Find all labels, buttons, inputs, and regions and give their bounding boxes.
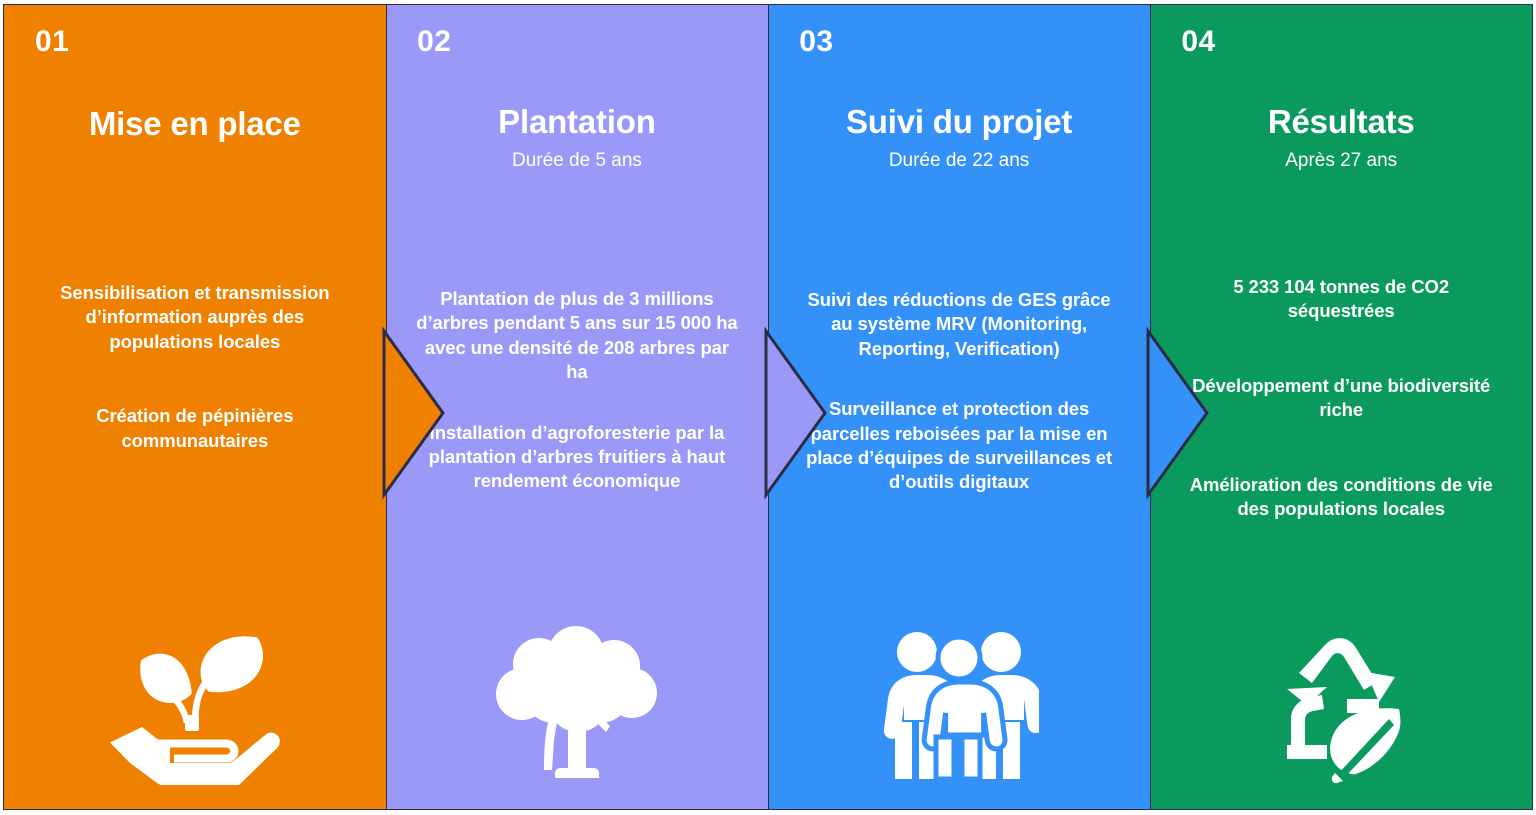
step-title-01: Mise en place [18, 105, 372, 143]
step-paragraph: Suivi des réductions de GES grâce au sys… [796, 288, 1122, 361]
process-steps-row: 01 Mise en place Sensibilisation et tran… [3, 4, 1533, 810]
step-paragraph: Surveillance et protection des parcelles… [796, 397, 1122, 495]
step-body-02: Plantation de plus de 3 millions d’arbre… [386, 287, 768, 530]
step-icon-wrap-03 [768, 605, 1150, 785]
step-paragraph: Sensibilisation et transmission d’inform… [38, 281, 352, 354]
step-paragraph: Création de pépinières communautaires [38, 404, 352, 453]
step-title-04: Résultats [1164, 103, 1518, 141]
recycle-leaf-icon [1261, 627, 1421, 785]
hand-holding-seedling-icon [107, 627, 282, 785]
step-icon-wrap-02 [386, 605, 768, 785]
step-icon-wrap-04 [1150, 605, 1532, 785]
step-title-03: Suivi du projet [782, 103, 1136, 141]
step-body-03: Suivi des réductions de GES grâce au sys… [768, 288, 1150, 531]
process-step-04[interactable]: 04 Résultats Après 27 ans 5 233 104 tonn… [1149, 4, 1533, 810]
step-body-04: 5 233 104 tonnes de CO2 séquestrées Déve… [1150, 275, 1532, 571]
step-number-03: 03 [799, 27, 833, 57]
tree-icon [494, 620, 659, 785]
step-icon-wrap-01 [4, 605, 386, 785]
step-number-04: 04 [1181, 27, 1215, 57]
step-body-01: Sensibilisation et transmission d’inform… [4, 281, 386, 503]
step-header-03: Suivi du projet Durée de 22 ans [768, 103, 1150, 173]
process-step-01[interactable]: 01 Mise en place Sensibilisation et tran… [3, 4, 387, 810]
step-paragraph: Plantation de plus de 3 millions d’arbre… [416, 287, 738, 385]
step-paragraph: Développement d’une biodiversité riche [1182, 374, 1500, 423]
step-title-02: Plantation [400, 103, 754, 141]
three-people-icon [879, 630, 1039, 785]
step-number-02: 02 [417, 27, 451, 57]
process-step-03[interactable]: 03 Suivi du projet Durée de 22 ans Suivi… [767, 4, 1151, 810]
step-paragraph: Amélioration des conditions de vie des p… [1182, 473, 1500, 522]
step-header-04: Résultats Après 27 ans [1150, 103, 1532, 173]
step-header-02: Plantation Durée de 5 ans [386, 103, 768, 173]
step-paragraph: 5 233 104 tonnes de CO2 séquestrées [1182, 275, 1500, 324]
step-paragraph: Installation d’agroforesterie par la pla… [416, 421, 738, 494]
step-subtitle-02: Durée de 5 ans [400, 150, 754, 173]
infographic-canvas: 01 Mise en place Sensibilisation et tran… [0, 0, 1536, 815]
step-header-01: Mise en place [4, 105, 386, 143]
step-number-01: 01 [35, 27, 69, 57]
process-step-02[interactable]: 02 Plantation Durée de 5 ans Plantation … [385, 4, 769, 810]
step-subtitle-03: Durée de 22 ans [782, 150, 1136, 173]
step-subtitle-04: Après 27 ans [1164, 150, 1518, 173]
